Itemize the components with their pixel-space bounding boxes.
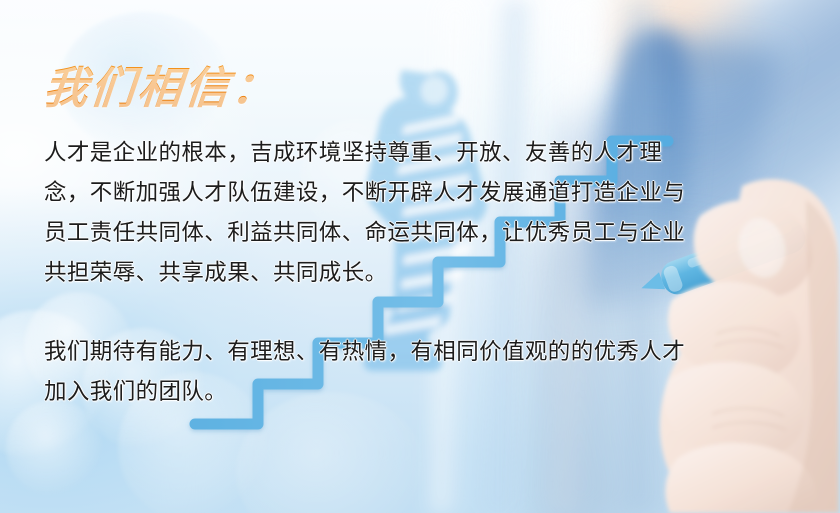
paragraph-line: 共担荣辱、共享成果、共同成长。 bbox=[44, 253, 734, 293]
paragraph-invitation: 我们期待有能力、有理想、有热情，有相同价值观的的优秀人才 加入我们的团队。 bbox=[44, 332, 734, 412]
paragraph-line: 加入我们的团队。 bbox=[44, 372, 734, 412]
paragraph-line: 人才是企业的根本，吉成环境坚持尊重、开放、友善的人才理 bbox=[44, 133, 734, 173]
banner-content: 我们相信： 人才是企业的根本，吉成环境坚持尊重、开放、友善的人才理 念，不断加强… bbox=[0, 0, 840, 513]
page-title: 我们相信： bbox=[41, 52, 282, 116]
paragraph-belief: 人才是企业的根本，吉成环境坚持尊重、开放、友善的人才理 念，不断加强人才队伍建设… bbox=[44, 133, 734, 293]
paragraph-line: 念，不断加强人才队伍建设，不断开辟人才发展通道打造企业与 bbox=[44, 173, 734, 213]
paragraph-line: 员工责任共同体、利益共同体、命运共同体，让优秀员工与企业 bbox=[44, 213, 734, 253]
recruitment-banner: 我们相信： 人才是企业的根本，吉成环境坚持尊重、开放、友善的人才理 念，不断加强… bbox=[0, 0, 840, 513]
paragraph-line: 我们期待有能力、有理想、有热情，有相同价值观的的优秀人才 bbox=[44, 332, 734, 372]
